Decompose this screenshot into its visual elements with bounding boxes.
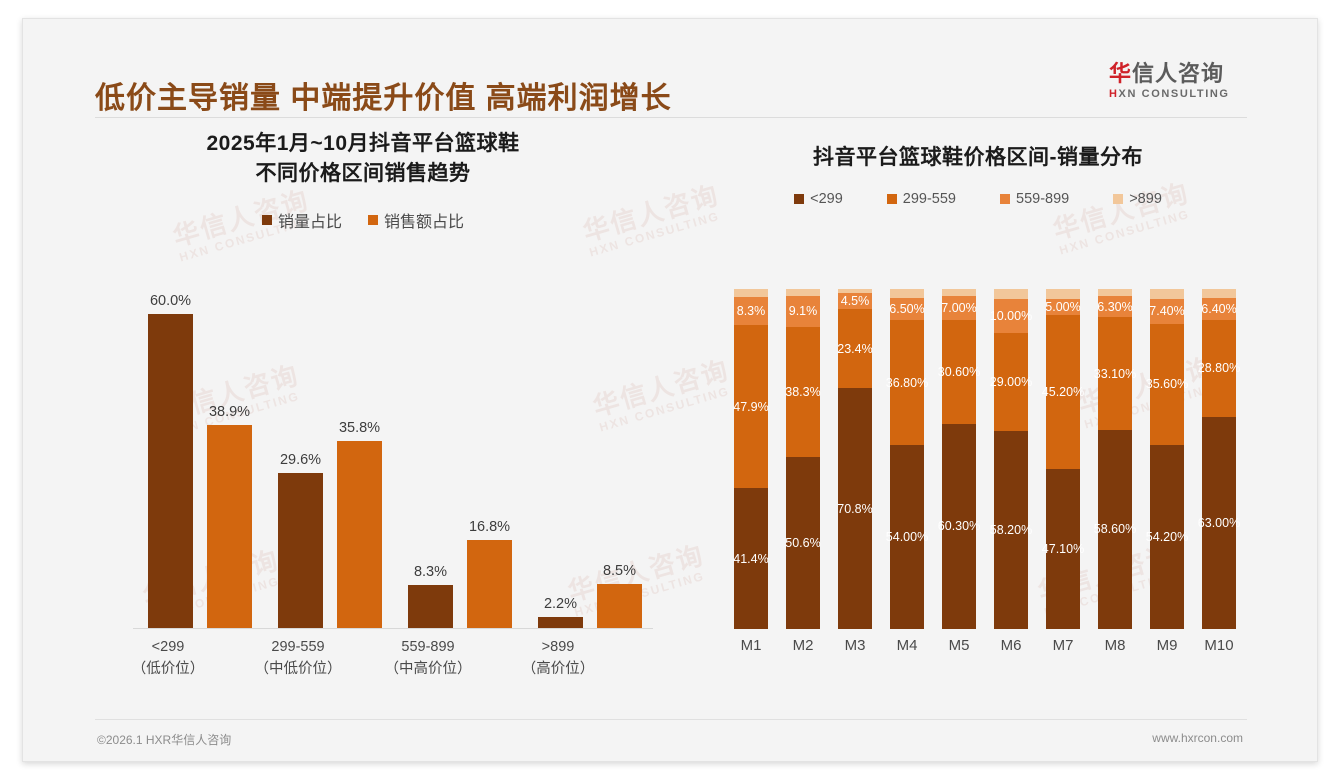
legend-swatch-icon [887, 194, 897, 204]
stacked-bar[interactable]: 63.00%28.80%6.40%2.80%2.80% [1202, 289, 1236, 629]
stack-segment-label: 63.00% [1198, 516, 1240, 530]
stack-segment[interactable]: 70.8% [838, 388, 872, 629]
stack-segment-label: 23.4% [837, 342, 872, 356]
x-tick-sub: （高价位） [493, 659, 623, 681]
stack-segment[interactable]: 1.2%1.2% [838, 289, 872, 293]
x-tick-sub: （中高价位） [363, 659, 493, 681]
stack-segment-label: 50.6% [785, 536, 820, 550]
bar-column[interactable]: 8.3% [408, 585, 453, 628]
stack-segment[interactable]: 6.50% [890, 298, 924, 320]
stack-segment-label: 58.20% [990, 523, 1032, 537]
stack-segment-label: 9.1% [789, 304, 818, 318]
stack-segment[interactable]: 36.80% [890, 320, 924, 445]
footer-copyright: ©2026.1 HXR华信人咨询 [97, 731, 231, 748]
legend-left-item-1[interactable]: 销售额占比 [368, 208, 464, 232]
bar-column[interactable]: 16.8% [467, 540, 512, 628]
legend-label: 销量占比 [278, 208, 342, 232]
stacked-bar[interactable]: 41.4%47.9%8.3%2.4%2.4% [734, 289, 768, 629]
bar[interactable] [597, 584, 642, 628]
legend-right-item-2[interactable]: 559-899 [1000, 191, 1069, 207]
x-tick-main: 299-559 [271, 639, 324, 655]
x-axis-tick-label: <299（低价位） [103, 637, 233, 681]
stack-segment[interactable]: 2.4%2.4% [734, 289, 768, 297]
bar-group: 8.3%16.8% [395, 288, 525, 628]
bar[interactable] [467, 540, 512, 628]
bar-column[interactable]: 2.2% [538, 617, 583, 629]
stack-segment[interactable]: 2.80%2.80% [1202, 289, 1236, 298]
stack-segment[interactable]: 54.20% [1150, 445, 1184, 629]
stack-segment[interactable]: 7.40% [1150, 299, 1184, 324]
stack-segment[interactable]: 2.80%2.80% [994, 289, 1028, 299]
stack-segment-label: 7.00% [941, 301, 976, 315]
right-chart-stacks: 41.4%47.9%8.3%2.4%2.4%50.6%38.3%9.1%2.0%… [725, 289, 1267, 629]
legend-label: 559-899 [1016, 191, 1069, 207]
legend-swatch-icon [1000, 194, 1010, 204]
stack-segment-label: 8.3% [737, 304, 766, 318]
stack-segment-label: 30.60% [938, 365, 980, 379]
x-axis-tick-label: M7 [1037, 637, 1089, 654]
x-axis-tick-label: M1 [725, 637, 777, 654]
legend-label: 299-559 [903, 191, 956, 207]
stacked-bar[interactable]: 58.20%29.00%10.00%2.80%2.80% [994, 289, 1028, 629]
stack-segment-label: 28.80% [1198, 361, 1240, 375]
x-axis-tick-label: >899（高价位） [493, 637, 623, 681]
x-axis-tick-label: M2 [777, 637, 829, 654]
bar-group: 2.2%8.5% [525, 288, 655, 628]
stack-segment[interactable]: 30.60% [942, 320, 976, 424]
x-axis-tick-label: M9 [1141, 637, 1193, 654]
stack-segment-label: 33.10% [1094, 367, 1136, 381]
stack-segment-label: 60.30% [938, 519, 980, 533]
x-tick-main: <299 [152, 639, 185, 655]
logo-en-accent: H [1109, 88, 1119, 100]
stacked-bar[interactable]: 54.20%35.60%7.40%2.80%2.80% [1150, 289, 1184, 629]
bar[interactable] [278, 473, 323, 628]
right-chart-plot-area: 41.4%47.9%8.3%2.4%2.4%50.6%38.3%9.1%2.0%… [691, 289, 1271, 689]
stack-segment-label: 5.00% [1045, 300, 1080, 314]
stack-segment[interactable]: 33.10% [1098, 317, 1132, 430]
legend-label: <299 [810, 191, 843, 207]
stack-segment-label: 70.8% [837, 502, 872, 516]
stack-segment[interactable]: 2.10%2.10% [942, 289, 976, 296]
stack-segment-label: 36.80% [886, 376, 928, 390]
stack-segment[interactable]: 2.80%2.80% [1046, 289, 1080, 299]
stack-segment-label: 38.3% [785, 385, 820, 399]
stack-segment[interactable]: 2.00%2.00% [1098, 289, 1132, 296]
stack-segment-label: 6.30% [1097, 300, 1132, 314]
x-axis-tick-label: 559-899（中高价位） [363, 637, 493, 681]
stack-segment[interactable]: 47.9% [734, 325, 768, 488]
x-axis-tick-label: M10 [1193, 637, 1245, 654]
stack-segment-label: 35.60% [1146, 377, 1188, 391]
bar-value-label: 35.8% [339, 420, 380, 436]
stack-segment-label: 7.40% [1149, 304, 1184, 318]
stack-segment[interactable]: 50.6% [786, 457, 820, 629]
stack-segment-label: 10.00% [990, 309, 1032, 323]
x-axis-tick-label: M3 [829, 637, 881, 654]
stack-segment[interactable]: 58.20% [994, 431, 1028, 629]
stack-segment[interactable]: 35.60% [1150, 324, 1184, 445]
stacked-bar[interactable]: 54.00%36.80%6.50%2.70%2.70% [890, 289, 924, 629]
stack-segment-label: 4.5% [841, 294, 870, 308]
logo-en-rest: XN CONSULTING [1119, 88, 1230, 100]
legend-right-item-1[interactable]: 299-559 [887, 191, 956, 207]
header-divider [95, 117, 1247, 118]
bar[interactable] [538, 617, 583, 629]
legend-right-item-3[interactable]: >899 [1113, 191, 1162, 207]
stacked-bar[interactable]: 60.30%30.60%7.00%2.10%2.10% [942, 289, 976, 629]
stack-segment[interactable]: 45.20% [1046, 315, 1080, 469]
stack-segment-label: 54.20% [1146, 530, 1188, 544]
stacked-bar[interactable]: 58.60%33.10%6.30%2.00%2.00% [1098, 289, 1132, 629]
stack-segment-label: 6.50% [889, 302, 924, 316]
stack-segment[interactable]: 6.30% [1098, 296, 1132, 317]
stack-segment-label: 47.9% [733, 400, 768, 414]
bar-value-label: 16.8% [469, 519, 510, 535]
stack-segment[interactable]: 54.00% [890, 445, 924, 629]
stacked-bar[interactable]: 70.8%23.4%4.5%1.2%1.2% [838, 289, 872, 629]
legend-label: >899 [1129, 191, 1162, 207]
logo-cn-rest: 信人咨询 [1132, 61, 1224, 86]
x-axis-tick-label: M8 [1089, 637, 1141, 654]
stack-segment-label: 54.00% [886, 530, 928, 544]
stack-segment[interactable]: 38.3% [786, 327, 820, 457]
legend-left-item-0[interactable]: 销量占比 [262, 208, 342, 232]
bar-value-label: 8.5% [603, 563, 636, 579]
x-axis-tick-label: M6 [985, 637, 1037, 654]
bar-value-label: 8.3% [414, 564, 447, 580]
bar-column[interactable]: 29.6% [278, 473, 323, 628]
stack-segment[interactable]: 5.00% [1046, 299, 1080, 316]
legend-label: 销售额占比 [384, 208, 464, 232]
bar-group: 60.0%38.9% [135, 288, 265, 628]
stack-segment[interactable]: 60.30% [942, 424, 976, 629]
x-axis-tick-label: M5 [933, 637, 985, 654]
left-chart-title: 2025年1月~10月抖音平台篮球鞋 不同价格区间销售趋势 [63, 129, 663, 190]
bar-column[interactable]: 8.5% [597, 584, 642, 628]
x-axis-tick-label: M4 [881, 637, 933, 654]
legend-swatch-icon [262, 215, 272, 225]
stack-segment-label: 45.20% [1042, 385, 1084, 399]
stack-segment-label: 41.4% [733, 552, 768, 566]
left-chart-legend: 销量占比销售额占比 [63, 208, 663, 232]
stack-segment[interactable]: 29.00% [994, 333, 1028, 432]
stack-segment-label: 47.10% [1042, 542, 1084, 556]
stack-segment[interactable]: 47.10% [1046, 469, 1080, 629]
bar-value-label: 60.0% [150, 293, 191, 309]
footer-divider [95, 719, 1247, 720]
bar-value-label: 2.2% [544, 596, 577, 612]
left-chart-plot-area: 60.0%38.9%29.6%35.8%8.3%16.8%2.2%8.5% <2… [101, 289, 653, 689]
stack-segment[interactable]: 9.1% [786, 296, 820, 327]
x-tick-main: 559-899 [401, 639, 454, 655]
slide-canvas: 低价主导销量 中端提升价值 高端利润增长 华信人咨询 HXN CONSULTIN… [22, 18, 1318, 762]
left-chart-bars: 60.0%38.9%29.6%35.8%8.3%16.8%2.2%8.5% [133, 289, 653, 629]
stack-segment[interactable]: 8.3% [734, 297, 768, 325]
bar-column[interactable]: 60.0% [148, 314, 193, 628]
stack-segment[interactable]: 41.4% [734, 488, 768, 629]
stacked-bar[interactable]: 47.10%45.20%5.00%2.80%2.80% [1046, 289, 1080, 629]
right-chart-panel: 抖音平台篮球鞋价格区间-销量分布 <299299-559559-899>899 … [673, 129, 1283, 699]
bar[interactable] [408, 585, 453, 628]
stack-segment-label: 6.40% [1201, 302, 1236, 316]
x-tick-sub: （中低价位） [233, 659, 363, 681]
bar[interactable] [148, 314, 193, 628]
legend-swatch-icon [368, 215, 378, 225]
stack-segment[interactable]: 58.60% [1098, 430, 1132, 629]
stack-segment[interactable]: 10.00% [994, 299, 1028, 333]
x-tick-sub: （低价位） [103, 659, 233, 681]
bar-group: 29.6%35.8% [265, 288, 395, 628]
bar-column[interactable]: 35.8% [337, 441, 382, 628]
stack-segment[interactable]: 7.00% [942, 296, 976, 320]
legend-swatch-icon [1113, 194, 1123, 204]
company-logo: 华信人咨询 HXN CONSULTING [1109, 61, 1269, 100]
stack-segment[interactable]: 4.5% [838, 293, 872, 308]
stack-segment[interactable]: 2.80%2.80% [1150, 289, 1184, 299]
stack-segment[interactable]: 2.0%2.0% [786, 289, 820, 296]
stacked-bar[interactable]: 50.6%38.3%9.1%2.0%2.0% [786, 289, 820, 629]
bar[interactable] [207, 425, 252, 628]
bar[interactable] [337, 441, 382, 628]
x-axis-tick-label: 299-559（中低价位） [233, 637, 363, 681]
stack-segment[interactable]: 23.4% [838, 309, 872, 389]
logo-english-text: HXN CONSULTING [1109, 88, 1269, 100]
logo-chinese-text: 华信人咨询 [1109, 61, 1269, 86]
stack-segment[interactable]: 63.00% [1202, 417, 1236, 629]
stack-segment-label: 29.00% [990, 375, 1032, 389]
bar-column[interactable]: 38.9% [207, 425, 252, 628]
stack-segment[interactable]: 2.70%2.70% [890, 289, 924, 298]
left-chart-panel: 2025年1月~10月抖音平台篮球鞋 不同价格区间销售趋势 销量占比销售额占比 … [63, 129, 663, 699]
stack-segment-label: 58.60% [1094, 522, 1136, 536]
x-tick-main: >899 [542, 639, 575, 655]
stack-segment[interactable]: 6.40% [1202, 298, 1236, 320]
footer-website[interactable]: www.hxrcon.com [1152, 731, 1243, 745]
slide-header: 低价主导销量 中端提升价值 高端利润增长 华信人咨询 HXN CONSULTIN… [23, 19, 1318, 115]
legend-right-item-0[interactable]: <299 [794, 191, 843, 207]
legend-swatch-icon [794, 194, 804, 204]
page-title: 低价主导销量 中端提升价值 高端利润增长 [95, 73, 672, 117]
right-chart-legend: <299299-559559-899>899 [673, 191, 1283, 207]
right-chart-title: 抖音平台篮球鞋价格区间-销量分布 [673, 129, 1283, 173]
bar-value-label: 29.6% [280, 452, 321, 468]
stack-segment[interactable]: 28.80% [1202, 320, 1236, 417]
logo-cn-accent: 华 [1109, 61, 1132, 86]
bar-value-label: 38.9% [209, 404, 250, 420]
